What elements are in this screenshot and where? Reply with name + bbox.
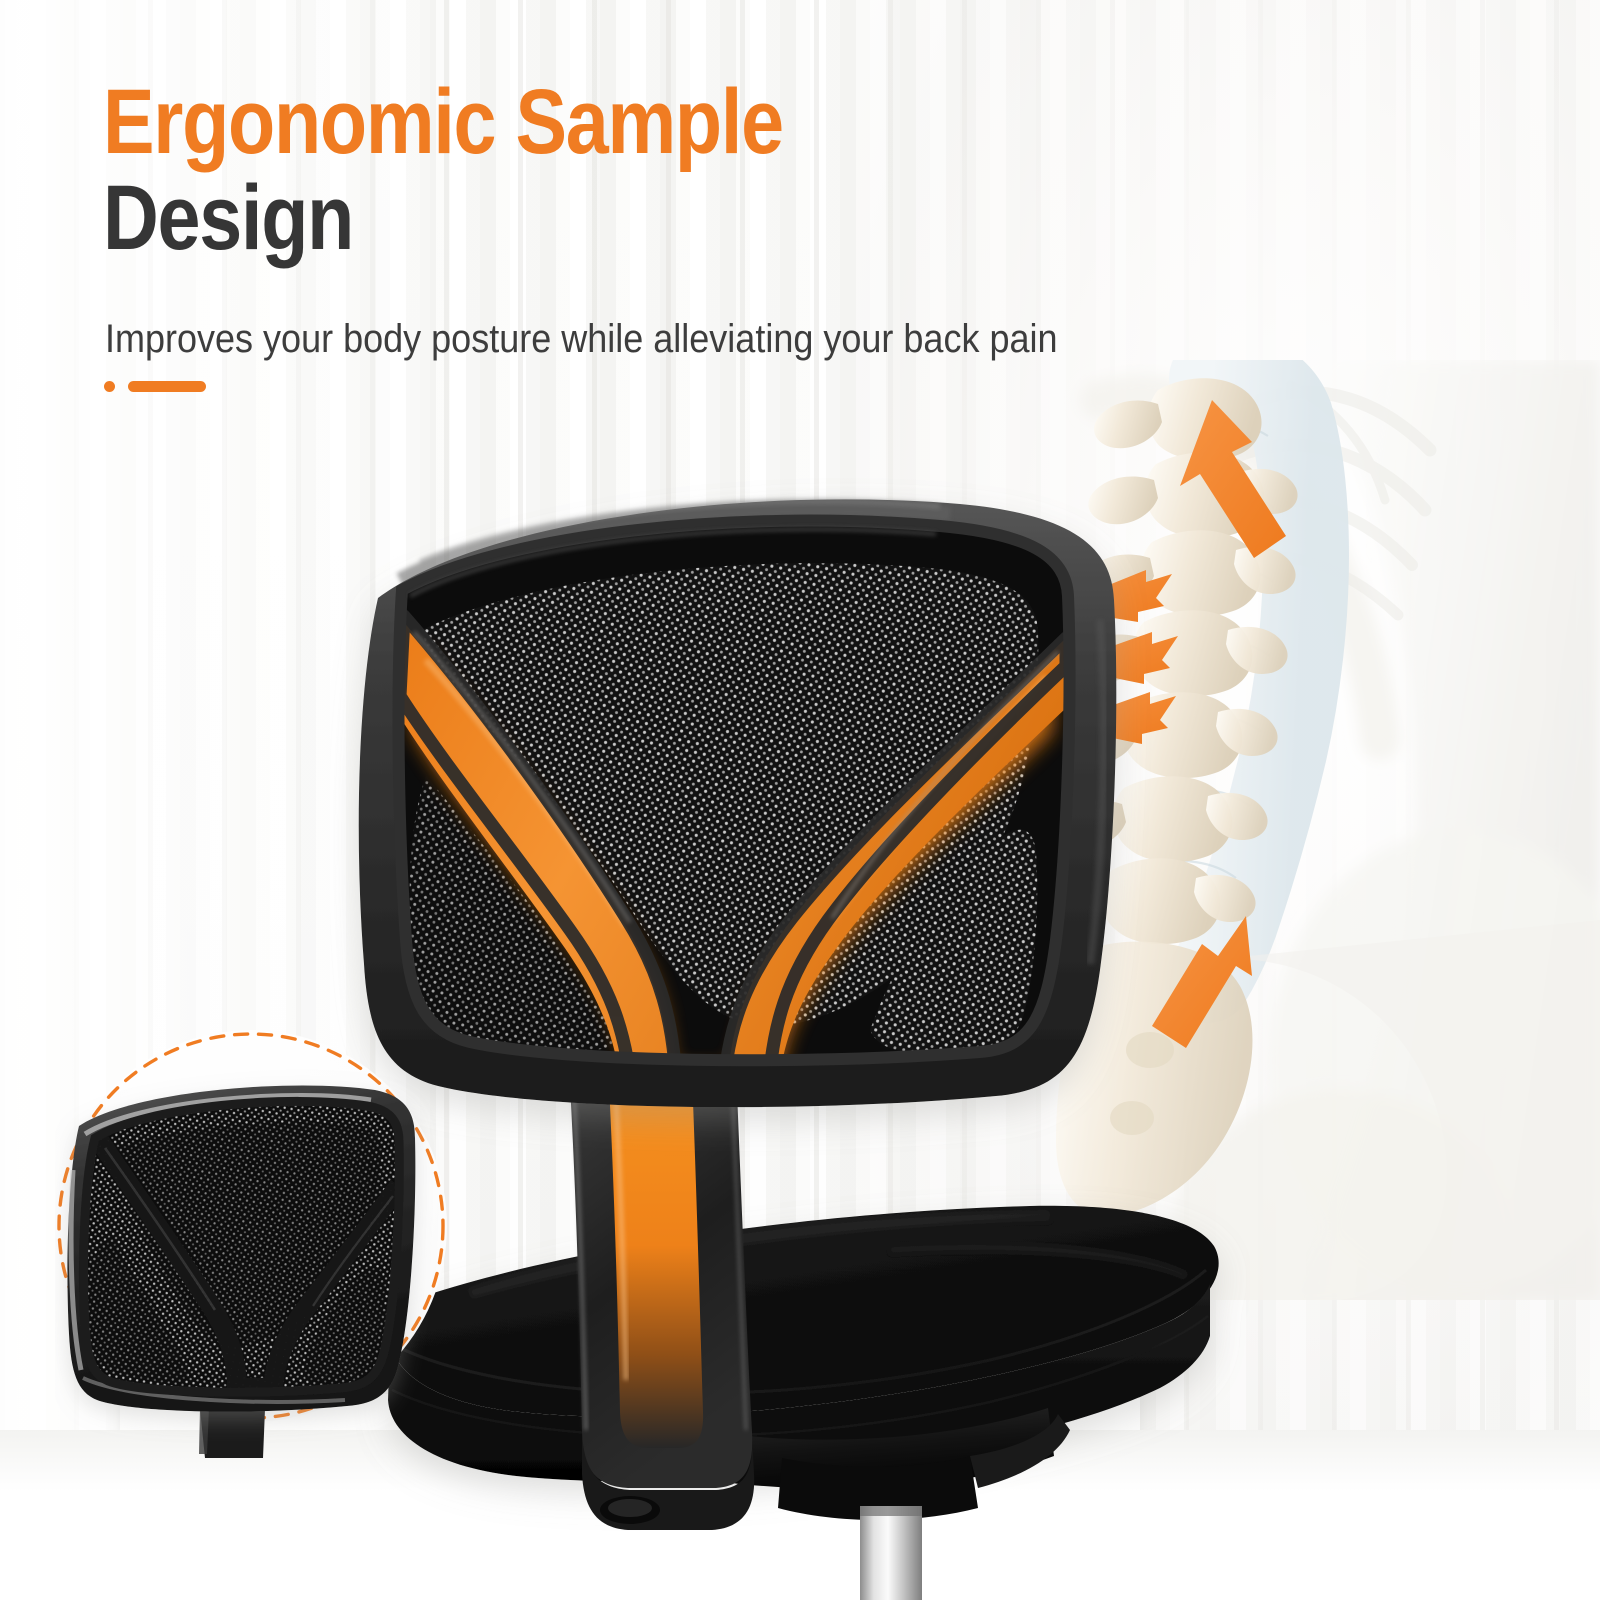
page-subtitle: Improves your body posture while allevia… <box>105 317 1058 361</box>
gas-cylinder <box>860 1506 922 1600</box>
page-title-line2: Design <box>103 172 1111 264</box>
header-block: Ergonomic Sample Design <box>103 78 1303 264</box>
inset-backrest <box>67 1086 415 1412</box>
page-title-line1: Ergonomic Sample <box>103 78 1111 166</box>
marketing-banner: Ergonomic Sample Design Improves your bo… <box>0 0 1600 1600</box>
detail-callout-inset <box>55 1030 455 1460</box>
accent-dot-icon <box>104 381 115 392</box>
accent-divider <box>104 381 206 392</box>
office-chair-main <box>330 470 1250 1600</box>
chair-svg <box>330 470 1250 1600</box>
accent-bar-icon <box>128 381 206 392</box>
inset-svg <box>55 1030 455 1460</box>
